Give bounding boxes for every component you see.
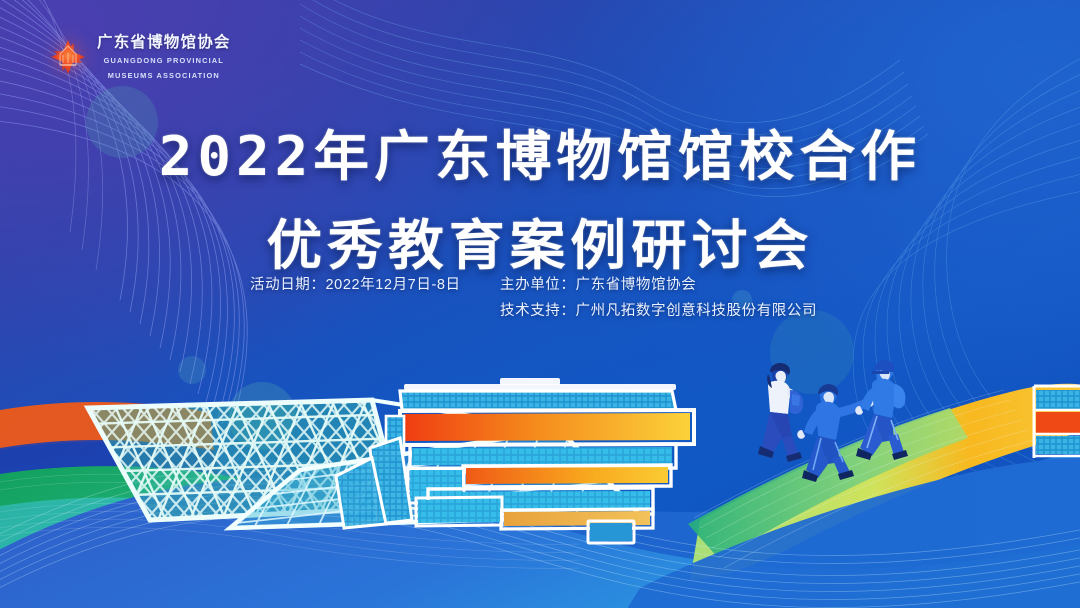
poster-title: 2022年广东博物馆馆校合作 优秀教育案例研讨会 <box>0 112 1080 280</box>
wave-right-line-texture <box>694 390 1034 568</box>
wave-right-yellow-green <box>690 384 1080 580</box>
museum-association-emblem-icon <box>48 37 88 77</box>
central-grid-building <box>336 378 694 543</box>
wave-left-navy <box>0 440 218 476</box>
association-logo[interactable]: 广东省博物馆协会 GUANGDONG PROVINCIAL MUSEUMS AS… <box>48 33 231 81</box>
title-line-2: 优秀教育案例研讨会 <box>0 201 1080 280</box>
logo-name-en-line1: GUANGDONG PROVINCIAL <box>97 55 231 66</box>
student-figures-group <box>748 358 938 493</box>
student-walking-left <box>758 363 803 462</box>
title-line-1: 2022年广东博物馆馆校合作 <box>0 112 1080 191</box>
event-info-block: 活动日期：2022年12月7日-8日 主办单位：广东省博物馆协会 技术支持：广州… <box>0 272 1080 324</box>
wave-left-line-texture <box>0 474 580 568</box>
logo-name-cn: 广东省博物馆协会 <box>97 35 231 51</box>
wave-base-blue <box>0 450 1080 608</box>
student-running-center <box>797 384 874 482</box>
wave-left-teal <box>0 497 580 608</box>
wave-left-green <box>0 466 520 540</box>
wave-right-blue-overlay <box>620 458 1080 608</box>
student-running-right <box>855 360 908 460</box>
wave-left-orange <box>0 402 214 452</box>
wave-right-green <box>688 408 968 560</box>
event-info-right-column: 主办单位：广东省博物馆协会 技术支持：广州凡拓数字创意科技股份有限公司 <box>500 272 830 324</box>
event-info-left-column: 活动日期：2022年12月7日-8日 <box>250 272 500 324</box>
event-organizer: 主办单位：广东省博物馆协会 <box>500 272 830 298</box>
museum-lattice-building <box>86 380 662 536</box>
wave-foreground-blue <box>0 477 1080 608</box>
wave-line-texture <box>0 463 1080 608</box>
event-poster: 广东省博物馆协会 GUANGDONG PROVINCIAL MUSEUMS AS… <box>0 0 1080 608</box>
event-date: 活动日期：2022年12月7日-8日 <box>250 272 500 298</box>
logo-name-en-line2: MUSEUMS ASSOCIATION <box>97 70 231 81</box>
logo-text-block: 广东省博物馆协会 GUANGDONG PROVINCIAL MUSEUMS AS… <box>97 33 231 81</box>
event-tech-support: 技术支持：广州凡拓数字创意科技股份有限公司 <box>500 298 830 324</box>
right-building-edge <box>1034 386 1080 458</box>
